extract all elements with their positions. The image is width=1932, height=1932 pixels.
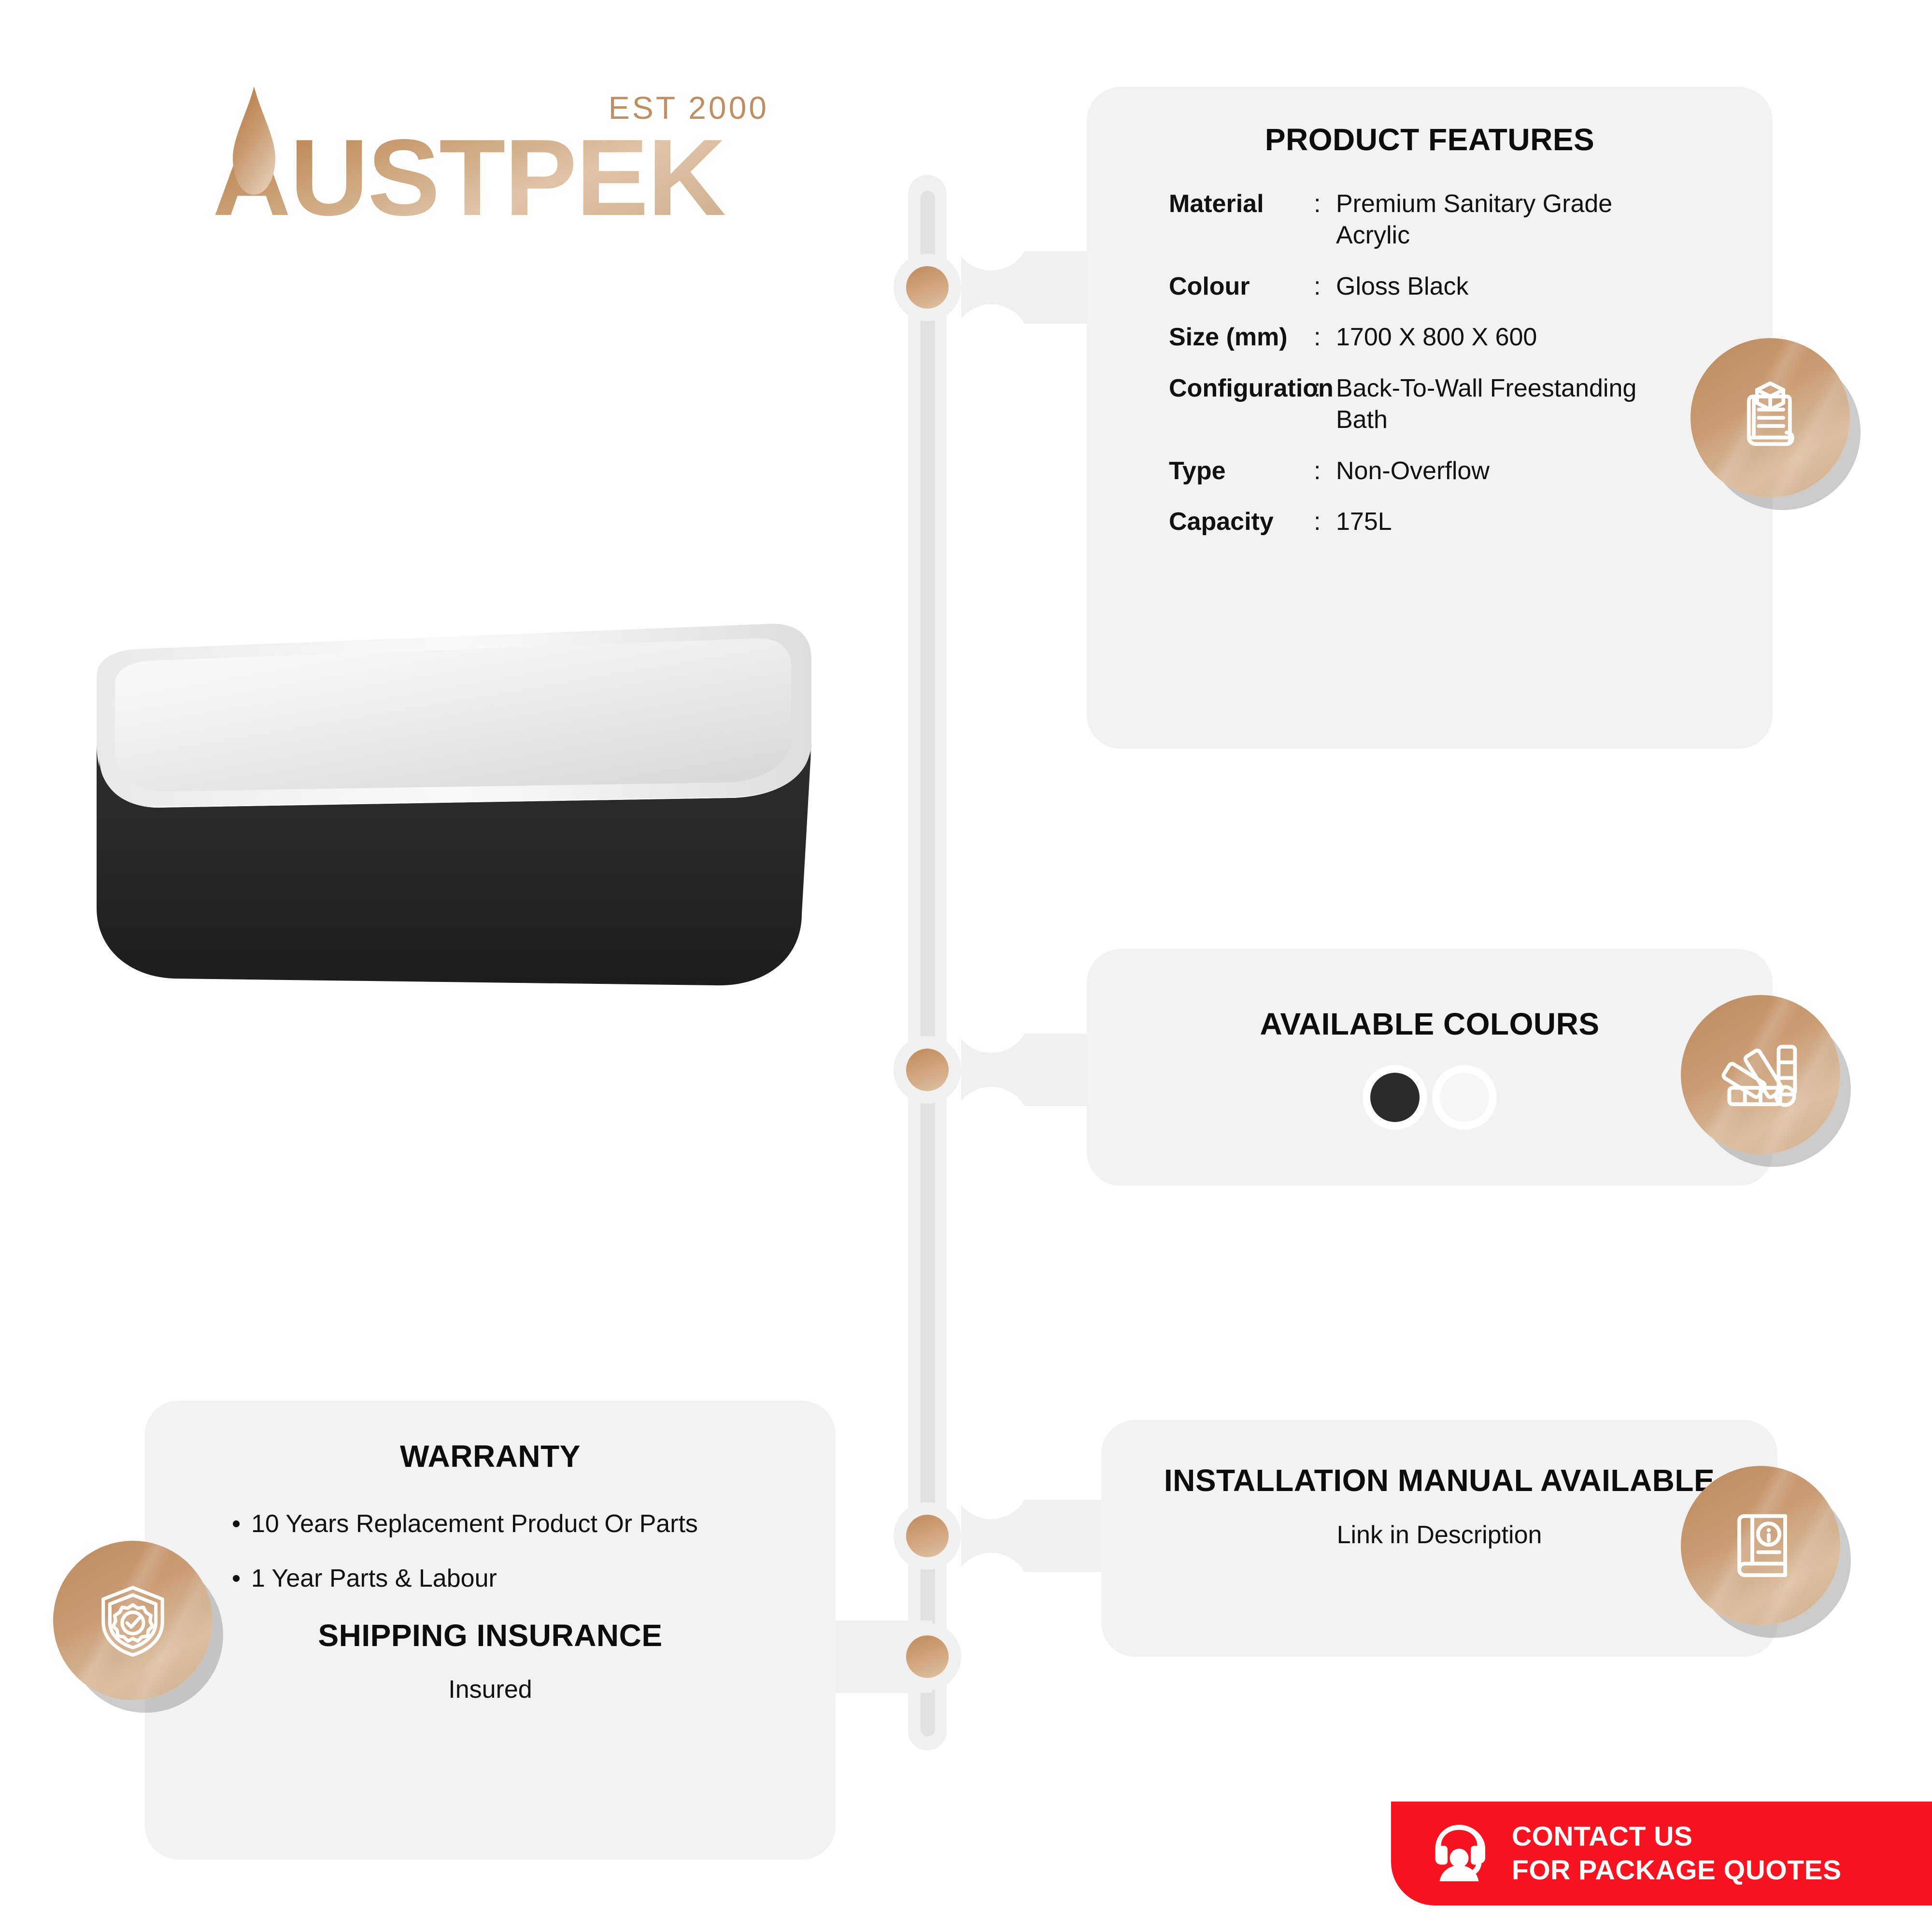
- contact-text-block: CONTACT US FOR PACKAGE QUOTES: [1512, 1820, 1841, 1887]
- spec-value: 175L: [1336, 506, 1392, 538]
- product-features-table: Material : Premium Sanitary Grade Acryli…: [1169, 188, 1729, 538]
- spec-value: Back-To-Wall Freestanding Bath: [1336, 373, 1645, 436]
- spec-value: Gloss Black: [1336, 271, 1469, 303]
- installation-manual-title: INSTALLATION MANUAL AVAILABLE: [1101, 1463, 1777, 1499]
- manual-book-icon: [1719, 1505, 1802, 1587]
- installation-manual-panel: INSTALLATION MANUAL AVAILABLE Link in De…: [1101, 1420, 1777, 1657]
- available-colours-panel: AVAILABLE COLOURS: [1087, 949, 1773, 1186]
- table-row: Type : Non-Overflow: [1169, 455, 1729, 487]
- warranty-item-text: 1 Year Parts & Labour: [251, 1563, 497, 1595]
- spec-label: Material: [1169, 188, 1314, 220]
- spec-colon: :: [1314, 188, 1336, 220]
- infographic-canvas: EST 2000 AUSTPEK: [0, 0, 1932, 1932]
- spec-label: Type: [1169, 455, 1314, 487]
- table-row: Colour : Gloss Black: [1169, 271, 1729, 303]
- shield-check-icon: [92, 1579, 174, 1662]
- spec-colon: :: [1314, 455, 1336, 487]
- product-features-title: PRODUCT FEATURES: [1087, 122, 1773, 158]
- bullet-marker: •: [232, 1563, 251, 1595]
- spec-label: Capacity: [1169, 506, 1314, 538]
- table-row: Material : Premium Sanitary Grade Acryli…: [1169, 188, 1729, 252]
- shipping-insurance-title: SHIPPING INSURANCE: [145, 1618, 836, 1654]
- rail-node-core: [906, 1515, 949, 1557]
- installation-manual-subtitle: Link in Description: [1101, 1520, 1777, 1549]
- rail-node-manual[interactable]: [894, 1502, 961, 1570]
- shipping-insurance-value: Insured: [145, 1675, 836, 1704]
- colour-swatch-black[interactable]: [1370, 1073, 1420, 1122]
- spec-sheet-badge[interactable]: [1690, 338, 1850, 497]
- list-item: • 1 Year Parts & Labour: [232, 1563, 763, 1595]
- product-features-panel: PRODUCT FEATURES Material : Premium Sani…: [1087, 87, 1773, 749]
- spec-label: Size (mm): [1169, 322, 1314, 354]
- product-image-bathtub: [77, 599, 831, 995]
- rail-node-features[interactable]: [894, 254, 961, 321]
- colour-swatch-row: [1087, 1073, 1773, 1122]
- rail-node-colours[interactable]: [894, 1036, 961, 1104]
- table-row: Configuration : Back-To-Wall Freestandin…: [1169, 373, 1729, 436]
- brand-logo: EST 2000 AUSTPEK: [213, 89, 782, 244]
- colour-swatch-white[interactable]: [1440, 1073, 1489, 1122]
- brand-name: AUSTPEK: [213, 123, 725, 232]
- contact-us-banner[interactable]: CONTACT US FOR PACKAGE QUOTES: [1391, 1802, 1932, 1905]
- headset-support-icon: [1423, 1818, 1495, 1890]
- spec-value: Premium Sanitary Grade Acrylic: [1336, 188, 1645, 252]
- spec-value: Non-Overflow: [1336, 455, 1490, 487]
- contact-line-1: CONTACT US: [1512, 1820, 1841, 1854]
- warranty-shield-badge[interactable]: [53, 1541, 213, 1700]
- rail-node-warranty[interactable]: [894, 1623, 961, 1690]
- water-droplet-icon: [231, 85, 277, 200]
- list-item: • 10 Years Replacement Product Or Parts: [232, 1508, 763, 1541]
- colour-palette-icon: [1719, 1034, 1802, 1116]
- rail-node-core: [906, 266, 949, 309]
- connector-manual: [961, 1500, 1116, 1572]
- bullet-marker: •: [232, 1508, 251, 1541]
- spec-value: 1700 X 800 X 600: [1336, 322, 1537, 354]
- rail-node-core: [906, 1635, 949, 1678]
- warranty-item-text: 10 Years Replacement Product Or Parts: [251, 1508, 698, 1541]
- table-row: Size (mm) : 1700 X 800 X 600: [1169, 322, 1729, 354]
- connector-colours: [961, 1034, 1106, 1106]
- connector-features: [961, 251, 1106, 324]
- available-colours-title: AVAILABLE COLOURS: [1087, 1006, 1773, 1043]
- spec-colon: :: [1314, 271, 1336, 303]
- spec-colon: :: [1314, 373, 1336, 405]
- colour-palette-badge[interactable]: [1681, 995, 1840, 1154]
- warranty-panel: WARRANTY • 10 Years Replacement Product …: [145, 1401, 836, 1860]
- spec-colon: :: [1314, 506, 1336, 538]
- table-row: Capacity : 175L: [1169, 506, 1729, 538]
- spec-label: Configuration: [1169, 373, 1314, 405]
- spec-label: Colour: [1169, 271, 1314, 303]
- warranty-list: • 10 Years Replacement Product Or Parts …: [232, 1508, 763, 1595]
- spec-sheet-icon: [1729, 377, 1811, 459]
- rail-node-core: [906, 1049, 949, 1091]
- manual-book-badge[interactable]: [1681, 1466, 1840, 1625]
- spec-colon: :: [1314, 322, 1336, 354]
- warranty-title: WARRANTY: [145, 1438, 836, 1475]
- contact-line-2: FOR PACKAGE QUOTES: [1512, 1854, 1841, 1888]
